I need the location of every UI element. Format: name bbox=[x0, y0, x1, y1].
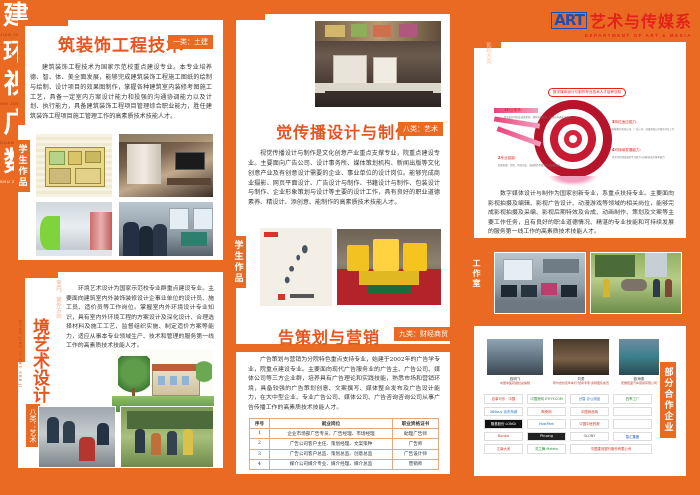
architecture-bracket-vertical bbox=[18, 20, 25, 125]
partner-logo bbox=[613, 419, 652, 429]
architecture-image-floorplan bbox=[35, 133, 113, 198]
table-header-cell: 序号 bbox=[250, 419, 270, 429]
digital-image-studio-lab bbox=[494, 252, 586, 314]
table-cell: 广告设计师 bbox=[393, 449, 439, 459]
visual-image-exhibition bbox=[314, 20, 442, 108]
environment-body: 环境艺术设计为国家示范校专业群重点建设专业。主要面向建筑室内外装饰装修设计企事业… bbox=[66, 285, 214, 352]
digital-point-3: 3岗位适应能力： 能够胜任影视公司、广告公司、动漫游戏公司相关岗位工作 bbox=[612, 110, 682, 131]
table-cell: 营销师 bbox=[393, 459, 439, 469]
architecture-image-livingroom bbox=[118, 133, 214, 198]
partner-logo: Phuong bbox=[527, 432, 566, 442]
architecture-badge: 一类：土建 bbox=[168, 35, 213, 49]
partner-logo: 花之舞 Meleto bbox=[527, 444, 566, 454]
visual-title: 觉传播设计与制作 bbox=[276, 119, 412, 143]
advertising-badge: 九类：财经商贸 bbox=[394, 327, 453, 341]
partner-logo: 中国建设银行股份有限公司 bbox=[570, 444, 652, 454]
poster-root: 建 筑装饰工程技术 JIAN ZHU ZHUANG SHI GONG CHENG… bbox=[0, 0, 700, 495]
digital-point-desc: 影视拍摄、剪辑、特效合成、动画制作等核心专业技能训练 bbox=[498, 164, 570, 167]
table-row: 2 广告公司客户主任、策划经理、文案策种 广告师 bbox=[250, 439, 439, 449]
visual-image-poster bbox=[260, 228, 332, 306]
advertising-title: 告策划与营销 bbox=[278, 324, 380, 348]
table-header-cell: 就业岗位 bbox=[270, 419, 393, 429]
visual-body: 视觉传播设计与制作是文化创意产业重点支撑专业，院重点建设专业。主要面向广告公司、… bbox=[248, 149, 440, 208]
partner-logo: 分智 办公用品 bbox=[570, 394, 609, 404]
digital-body: 数字媒体设计与制作为国家创新专业，系重点扶持专业。主要面向影视拍摄及编辑、影视广… bbox=[488, 190, 674, 238]
partner-logo bbox=[613, 407, 652, 417]
architecture-image-showroom bbox=[35, 201, 113, 257]
partner-featured-0: 钱明飞 中国中医药报社总编辑 bbox=[486, 338, 544, 386]
advertising-jobs-table: 序号 就业岗位 职业资格证书 1 企业市场部广告专员、广告经理、市场经理 助理广… bbox=[249, 418, 439, 470]
table-cell: 广告公司客户总监、策划总监、创意总监 bbox=[270, 449, 393, 459]
partner-logo: 陶瓷网 bbox=[527, 407, 566, 417]
table-row: 1 企业市场部广告专员、广告经理、市场经理 助理广告师 bbox=[250, 429, 439, 439]
partner-featured-2: 欧海燕 安徽阳盛汽车贸易有限公司 bbox=[618, 338, 660, 386]
environment-image-fieldtrip bbox=[120, 406, 214, 468]
digital-point-label: 岗位适应能力： bbox=[614, 120, 639, 124]
architecture-body: 建筑装饰工程技术为国家示范校重点建设专业。本专业培养德、智、体、美全面发展，能够… bbox=[30, 63, 212, 122]
environment-bracket-horizontal bbox=[18, 272, 58, 278]
table-cell: 助理广告师 bbox=[393, 429, 439, 439]
table-cell: 媒介公司媒介专业、媒介经理、媒介总监 bbox=[270, 459, 393, 469]
visual-image-packaging bbox=[336, 228, 442, 306]
digital-badge: 八类：艺术 bbox=[630, 56, 676, 67]
table-cell: 企业市场部广告专员、广告经理、市场经理 bbox=[270, 429, 393, 439]
environment-image-workshop bbox=[38, 406, 116, 468]
table-cell: 广告公司客户主任、策划经理、文案策种 bbox=[270, 439, 393, 449]
table-cell: 3 bbox=[250, 449, 270, 459]
digital-target-base bbox=[548, 176, 598, 186]
digital-point-4: 4可持续发展能力： 具有可持续发展的学习能力与创新创业的基本能力 bbox=[612, 138, 682, 159]
architecture-image-classroom bbox=[118, 201, 214, 257]
digital-direction: 影视方向 bbox=[484, 42, 492, 64]
partner-photo bbox=[618, 338, 660, 376]
digital-studio-label: 工作室 bbox=[470, 252, 485, 296]
architecture-bracket-horizontal bbox=[18, 20, 68, 26]
partner-logo: 中国商品网 bbox=[570, 407, 609, 417]
digital-image-outdoor-shoot bbox=[590, 252, 682, 314]
art-mark-icon: ART bbox=[551, 12, 587, 29]
visual-badge: 八类：艺术 bbox=[398, 122, 443, 136]
partner-featured-1: 刘勇 阿尔德约克年本行"慧商专家"资特团队成员 bbox=[552, 338, 610, 386]
partner-logo: HostPark bbox=[527, 419, 566, 429]
partner-desc: 阿尔德约克年本行"慧商专家"资特团队成员 bbox=[552, 382, 610, 386]
table-header-cell: 职业资格证书 bbox=[393, 419, 439, 429]
digital-point-desc: 具有可持续发展的学习能力与创新创业的基本能力 bbox=[612, 156, 682, 159]
table-cell: 广告师 bbox=[393, 439, 439, 449]
table-cell: 1 bbox=[250, 429, 270, 439]
environment-title: 境艺术设计 bbox=[27, 318, 52, 403]
table-row: 4 媒介公司媒介专业、媒介经理、媒介总监 营销师 bbox=[250, 459, 439, 469]
partner-desc: 中国中医药报社总编辑 bbox=[486, 382, 544, 386]
advertising-body: 广告策划与营销为分院特色重点支持专业，始建于2002年的广告学专业，院重点建设专… bbox=[248, 356, 440, 413]
table-cell: 2 bbox=[250, 439, 270, 449]
partner-desc: 安徽阳盛汽车贸易有限公司 bbox=[618, 382, 660, 386]
environment-pinyin: HUAN JING YI SHU SHE JI bbox=[18, 320, 22, 388]
partner-logo: 百事可乐 · 中国 bbox=[484, 394, 523, 404]
partner-logo-grid: 百事可乐 · 中国 中国房网 EYIYY.COM 分智 办公用品 四季工厂 36… bbox=[484, 394, 652, 454]
partner-logo: 隆基股份 LONGi bbox=[484, 419, 523, 429]
digital-bracket-vertical bbox=[467, 42, 474, 138]
environment-image-sketch bbox=[112, 350, 214, 412]
table-cell: 4 bbox=[250, 459, 270, 469]
table-row: 3 广告公司客户总监、策划总监、创意总监 广告设计师 bbox=[250, 449, 439, 459]
digital-point-label: 职业素养： bbox=[506, 108, 524, 112]
digital-point-desc: 具有良好的职业道德素养、团队协作能力、较强的沟通表达能力 bbox=[504, 116, 578, 119]
department-logo: ART 艺术与传媒系 DEPARTMENT OF ART & MEDIA bbox=[551, 8, 692, 38]
partner-logo: OLONY bbox=[570, 432, 609, 442]
partner-photo bbox=[552, 338, 610, 376]
digital-graphic-caption: 数字媒体设计与制作专业技术人才培养目标 bbox=[548, 88, 626, 97]
digital-point-1: 1职业素养： 具有良好的职业道德素养、团队协作能力、较强的沟通表达能力 bbox=[504, 98, 578, 119]
architecture-works-label: 学生作品 bbox=[14, 140, 30, 192]
digital-point-desc: 能够胜任影视公司、广告公司、动漫游戏公司相关岗位工作 bbox=[612, 128, 682, 131]
partner-logo: 中国房网 EYIYY.COM bbox=[527, 394, 566, 404]
partner-photo bbox=[486, 338, 544, 376]
digital-point-label: 可持续发展能力： bbox=[614, 148, 643, 152]
digital-point-label: 专业技能： bbox=[500, 156, 518, 160]
partner-logo: 360buy 京东商城 bbox=[484, 407, 523, 417]
environment-direction: 室内、室外方向 bbox=[54, 280, 62, 319]
partners-label: 部分合作企业 bbox=[660, 362, 676, 438]
partner-logo: 江南大米 bbox=[484, 444, 523, 454]
logo-en-name: DEPARTMENT OF ART & MEDIA bbox=[585, 33, 692, 38]
digital-point-2: 2专业技能： 影视拍摄、剪辑、特效合成、动画制作等核心专业技能训练 bbox=[498, 146, 570, 167]
visual-bracket-vertical bbox=[229, 14, 236, 134]
partner-logo: 智汇集团 bbox=[613, 432, 652, 442]
logo-cn-name: 艺术与传媒系 bbox=[590, 8, 692, 32]
visual-works-label: 学生作品 bbox=[230, 236, 246, 288]
visual-bracket-horizontal bbox=[229, 14, 265, 20]
partner-logo: 四季工厂 bbox=[613, 394, 652, 404]
architecture-title: 筑装饰工程技术 bbox=[58, 31, 184, 56]
partner-logo: 中国中医药报 bbox=[570, 419, 609, 429]
advertising-bracket bbox=[229, 352, 236, 412]
table-header-row: 序号 就业岗位 职业资格证书 bbox=[250, 419, 439, 429]
partner-logo: Bonita bbox=[484, 432, 523, 442]
